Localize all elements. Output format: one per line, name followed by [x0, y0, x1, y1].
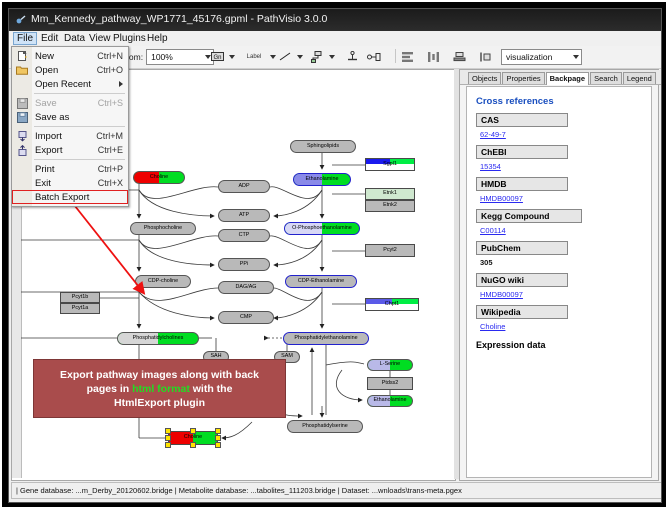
pathway-node-label: Phosphatidylcholines — [133, 336, 184, 341]
pathway-node-label: ADP — [238, 184, 249, 189]
xref-value-nugo[interactable]: HMDB00097 — [480, 290, 651, 299]
pathway-node-label: Choline — [184, 435, 202, 440]
pathway-node-label: Pcyt1a — [72, 306, 88, 311]
gene-product-icon[interactable]: Gn — [209, 48, 226, 65]
xref-pubchem: PubChem 305 — [476, 241, 651, 267]
xref-label-kegg: Kegg Compound — [476, 209, 582, 223]
xref-link-chebi[interactable]: 15354 — [480, 162, 501, 171]
xref-value-chebi[interactable]: 15354 — [480, 162, 651, 171]
visualization-value: visualization — [504, 52, 552, 62]
file-menu-item-label: Open — [32, 65, 97, 76]
selection-handle[interactable] — [190, 428, 196, 434]
submenu-arrow-icon — [119, 81, 123, 87]
state-tool-group[interactable] — [365, 48, 382, 65]
pathway-node-label: Ethanolamine — [374, 398, 407, 403]
pathway-node-label: Sgpl1 — [383, 162, 397, 167]
line-dropdown-caret-icon[interactable] — [297, 55, 303, 59]
pathway-node-phosphatidylserine[interactable]: Phosphatidylserine — [287, 420, 363, 433]
anchor-tool-group[interactable] — [344, 48, 361, 65]
tab-objects[interactable]: Objects — [468, 72, 501, 84]
file-menu-item-import[interactable]: ImportCtrl+M — [12, 129, 128, 143]
pathway-node-label: Ptdss2 — [382, 381, 398, 386]
pathway-node-label: DAG/AG — [236, 285, 257, 290]
xref-value-hmdb[interactable]: HMDB00097 — [480, 194, 651, 203]
zoom-combo[interactable]: 100% — [146, 49, 214, 65]
screenshot-root: Mm_Kennedy_pathway_WP1771_45176.gpml - P… — [0, 0, 670, 509]
xref-link-cas[interactable]: 62-49-7 — [480, 130, 506, 139]
new-file-icon — [12, 49, 32, 63]
pathway-node-label: Pcyt1b — [72, 295, 88, 300]
menu-item-no-icon — [12, 162, 32, 176]
line-icon[interactable] — [277, 48, 294, 65]
pathway-node-cmp[interactable]: CMP — [218, 311, 274, 324]
tab-search[interactable]: Search — [590, 72, 622, 84]
pathway-node-dag-ag[interactable]: DAG/AG — [218, 281, 274, 294]
pathway-node-ppi[interactable]: PPi — [218, 258, 270, 271]
callout-line-2: pages in html format with the — [87, 382, 233, 396]
pathway-node-label: Phosphatidylserine — [302, 424, 348, 429]
pathway-node-etnk2[interactable]: Etnk2 — [365, 200, 415, 212]
selection-handle[interactable] — [165, 435, 171, 441]
pathway-node-label: Sphingolipids — [307, 144, 339, 149]
xref-value-kegg[interactable]: C00114 — [480, 226, 651, 235]
xref-value-pubchem: 305 — [480, 258, 651, 267]
export-icon — [12, 143, 32, 157]
pathway-node-choline[interactable]: Choline — [133, 171, 185, 184]
pathway-node-label: Etnk2 — [383, 203, 397, 208]
pathway-node-label: L-Serine — [380, 362, 400, 367]
pathway-node-label: O-Phosphoethanolamine — [292, 226, 352, 231]
open-folder-icon — [12, 63, 32, 77]
chevron-down-icon — [573, 55, 579, 59]
distribute-tool[interactable] — [425, 48, 442, 65]
file-menu-item-exit[interactable]: ExitCtrl+X — [12, 176, 128, 190]
align-tool[interactable] — [399, 48, 416, 65]
file-menu-item-accelerator: Ctrl+S — [98, 98, 128, 108]
gene-dropdown-caret-icon[interactable] — [229, 55, 235, 59]
file-menu-item-new[interactable]: NewCtrl+N — [12, 49, 128, 63]
pathway-node-label: PPi — [240, 262, 248, 267]
tab-backpage[interactable]: Backpage — [546, 72, 589, 85]
pathvisio-window: Mm_Kennedy_pathway_WP1771_45176.gpml - P… — [8, 8, 662, 503]
pathway-node-atp[interactable]: ATP — [218, 209, 270, 222]
callout-highlight: html format — [132, 383, 190, 395]
sidebar-panel: Objects Properties Backpage Search Legen… — [459, 69, 659, 481]
expression-data-heading: Expression data — [476, 340, 651, 350]
pathway-node-label: Phosphatidylethanolamine — [294, 336, 357, 341]
zoom-value: 100% — [149, 52, 173, 62]
file-menu-item-accelerator: Ctrl+N — [97, 51, 128, 61]
file-menu-item-batch-export[interactable]: Batch Export — [12, 190, 128, 204]
file-menu-item-label: Batch Export — [32, 192, 123, 203]
svg-text:Gn: Gn — [213, 55, 221, 61]
file-menu-item-label: Save as — [32, 112, 123, 123]
file-menu-dropdown[interactable]: NewCtrl+NOpenCtrl+OOpen RecentSaveCtrl+S… — [11, 46, 129, 207]
pathway-node-ptdss2[interactable]: Ptdss2 — [367, 377, 413, 390]
pathvisio-app-icon — [15, 14, 27, 26]
menu-bar: File Edit Data View Plugins Help — [9, 31, 661, 47]
pathway-node-cdp-ethanolamine[interactable]: CDP-Ethanolamine — [285, 275, 357, 288]
pathway-node-ctp[interactable]: CTP — [218, 229, 270, 242]
pathway-node-label: CMP — [240, 315, 252, 320]
menu-item-no-icon — [12, 176, 32, 190]
pathway-node-label: Phosphocholine — [144, 226, 182, 231]
gene-tool-group[interactable]: Gn — [209, 48, 238, 65]
menu-separator — [34, 93, 125, 94]
pathway-node-chpt1[interactable]: Chpt1 — [365, 298, 419, 311]
file-menu-item-save: SaveCtrl+S — [12, 96, 128, 110]
pathway-node-label: Ethanolamine — [306, 177, 339, 182]
import-icon — [12, 129, 32, 143]
xref-label-pubchem: PubChem — [476, 241, 568, 255]
visualization-combo[interactable]: visualization — [501, 49, 582, 65]
line-tool-group[interactable] — [277, 48, 306, 65]
menu-item-no-icon — [12, 77, 32, 91]
pathway-node-pcyt1a[interactable]: Pcyt1a — [60, 303, 100, 314]
pathway-node-label: CDP-choline — [148, 279, 178, 284]
order-icon[interactable] — [477, 48, 494, 65]
file-menu-item-accelerator: Ctrl+P — [98, 164, 128, 174]
menu-separator — [34, 159, 125, 160]
file-menu-item-accelerator: Ctrl+X — [98, 178, 128, 188]
pathway-node-label: CDP-Ethanolamine — [298, 279, 344, 284]
tab-legend[interactable]: Legend — [623, 72, 656, 84]
pathway-node-label: Chpt1 — [385, 302, 399, 307]
file-menu-item-label: Import — [32, 131, 96, 142]
align-icon[interactable] — [399, 48, 416, 65]
menu-help[interactable]: Help — [143, 32, 172, 45]
status-bar: | Gene database: ...m_Derby_20120602.bri… — [11, 482, 662, 499]
selection-handle[interactable] — [215, 428, 221, 434]
selection-handle[interactable] — [215, 435, 221, 441]
menu-separator — [34, 126, 125, 127]
menu-edit[interactable]: Edit — [37, 32, 62, 45]
stack-icon[interactable] — [451, 48, 468, 65]
state-icon[interactable] — [365, 48, 382, 65]
order-tool[interactable] — [477, 48, 494, 65]
pathway-node-label: ATP — [239, 213, 249, 218]
window-title: Mm_Kennedy_pathway_WP1771_45176.gpml - P… — [31, 13, 327, 25]
file-menu-item-open[interactable]: OpenCtrl+O — [12, 63, 128, 77]
pathway-node-o-phosphoethanolamine[interactable]: O-Phosphoethanolamine — [284, 222, 360, 235]
xref-link-kegg[interactable]: C00114 — [480, 226, 506, 235]
file-menu-item-export[interactable]: ExportCtrl+E — [12, 143, 128, 157]
xref-label-hmdb: HMDB — [476, 177, 568, 191]
callout-line-3: HtmlExport plugin — [114, 396, 205, 410]
xref-wikipedia: Wikipedia Choline — [476, 305, 651, 331]
pathway-node-cdp-choline[interactable]: CDP-choline — [135, 275, 191, 288]
pathway-node-adp[interactable]: ADP — [218, 180, 270, 193]
cross-references-heading: Cross references — [467, 87, 651, 107]
callout-line-2-suffix: with the — [190, 383, 233, 395]
label-tool-group[interactable]: Label — [241, 48, 279, 65]
annotation-callout: Export pathway images along with back pa… — [33, 359, 286, 418]
file-menu-item-print[interactable]: PrintCtrl+P — [12, 162, 128, 176]
file-menu-item-open-recent[interactable]: Open Recent — [12, 77, 128, 91]
callout-line-1: Export pathway images along with back — [60, 368, 259, 382]
file-menu-item-accelerator: Ctrl+O — [97, 65, 128, 75]
file-menu-item-label: Export — [32, 145, 98, 156]
file-menu-item-accelerator: Ctrl+M — [96, 131, 128, 141]
pathway-node-sgpl1[interactable]: Sgpl1 — [365, 158, 415, 171]
xref-label-wikipedia: Wikipedia — [476, 305, 568, 319]
save-icon — [12, 96, 32, 110]
callout-line-2-prefix: pages in — [87, 383, 133, 395]
xref-chebi: ChEBI 15354 — [476, 145, 651, 171]
interaction-icon[interactable] — [309, 48, 326, 65]
file-menu-item-label: Exit — [32, 178, 98, 189]
pathway-node-pcyt2[interactable]: Pcyt2 — [365, 244, 415, 257]
selection-handle[interactable] — [190, 442, 196, 448]
xref-label-cas: CAS — [476, 113, 568, 127]
backpage-content: Cross references CAS 62-49-7 ChEBI 15354… — [466, 86, 652, 478]
menu-item-no-icon — [12, 190, 32, 204]
xref-nugo: NuGO wiki HMDB00097 — [476, 273, 651, 299]
stack-tool[interactable] — [451, 48, 468, 65]
file-menu-item-label: Open Recent — [32, 79, 119, 90]
pathway-node-etnk1[interactable]: Etnk1 — [365, 188, 415, 200]
save-as-icon — [12, 110, 32, 124]
pathway-node-phosphatidylethanolamine[interactable]: Phosphatidylethanolamine — [283, 332, 369, 345]
anchor-icon[interactable] — [344, 48, 361, 65]
xref-label-nugo: NuGO wiki — [476, 273, 568, 287]
label-button[interactable]: Label — [241, 48, 267, 65]
pathway-node-ethanolamine[interactable]: Ethanolamine — [293, 173, 351, 186]
sidebar-tabbar: Objects Properties Backpage Search Legen… — [460, 70, 662, 85]
selection-handle[interactable] — [165, 428, 171, 434]
pathway-node-label: Choline — [150, 175, 168, 180]
file-menu-item-accelerator: Ctrl+E — [98, 145, 128, 155]
selection-handle[interactable] — [165, 442, 171, 448]
xref-link-wikipedia[interactable]: Choline — [480, 322, 505, 331]
pathway-node-ethanolamine[interactable]: Ethanolamine — [367, 395, 413, 407]
xref-link-nugo[interactable]: HMDB00097 — [480, 290, 523, 299]
xref-value-cas[interactable]: 62-49-7 — [480, 130, 651, 139]
interaction-tool-group[interactable] — [309, 48, 338, 65]
xref-link-hmdb[interactable]: HMDB00097 — [480, 194, 523, 203]
visualization-control[interactable]: visualization — [501, 48, 582, 65]
label-dropdown-caret-icon[interactable] — [270, 55, 276, 59]
zoom-control[interactable]: Zoom: 100% — [119, 48, 214, 65]
selection-handle[interactable] — [215, 442, 221, 448]
xref-hmdb: HMDB HMDB00097 — [476, 177, 651, 203]
pathway-node-label: Pcyt2 — [383, 248, 396, 253]
pathway-node-sphingolipids[interactable]: Sphingolipids — [290, 140, 356, 153]
pathway-node-l-serine[interactable]: L-Serine — [367, 359, 413, 371]
menu-file[interactable]: File — [13, 32, 37, 45]
title-bar: Mm_Kennedy_pathway_WP1771_45176.gpml - P… — [9, 9, 661, 31]
interaction-dropdown-caret-icon[interactable] — [329, 55, 335, 59]
pathway-node-label: CTP — [239, 233, 250, 238]
pathway-node-label: Etnk1 — [383, 191, 397, 196]
pathway-node-pcyt1b[interactable]: Pcyt1b — [60, 292, 100, 303]
tab-properties[interactable]: Properties — [502, 72, 544, 84]
pathway-node-phosphocholine[interactable]: Phosphocholine — [130, 222, 196, 235]
file-menu-item-label: Print — [32, 164, 98, 175]
file-menu-item-label: Save — [32, 98, 98, 109]
distribute-icon[interactable] — [425, 48, 442, 65]
file-menu-item-label: New — [32, 51, 97, 62]
file-menu-item-save-as[interactable]: Save as — [12, 110, 128, 124]
xref-label-chebi: ChEBI — [476, 145, 568, 159]
xref-kegg: Kegg Compound C00114 — [476, 209, 651, 235]
xref-cas: CAS 62-49-7 — [476, 113, 651, 139]
xref-value-wikipedia[interactable]: Choline — [480, 322, 651, 331]
pathway-node-phosphatidylcholines[interactable]: Phosphatidylcholines — [117, 332, 199, 345]
